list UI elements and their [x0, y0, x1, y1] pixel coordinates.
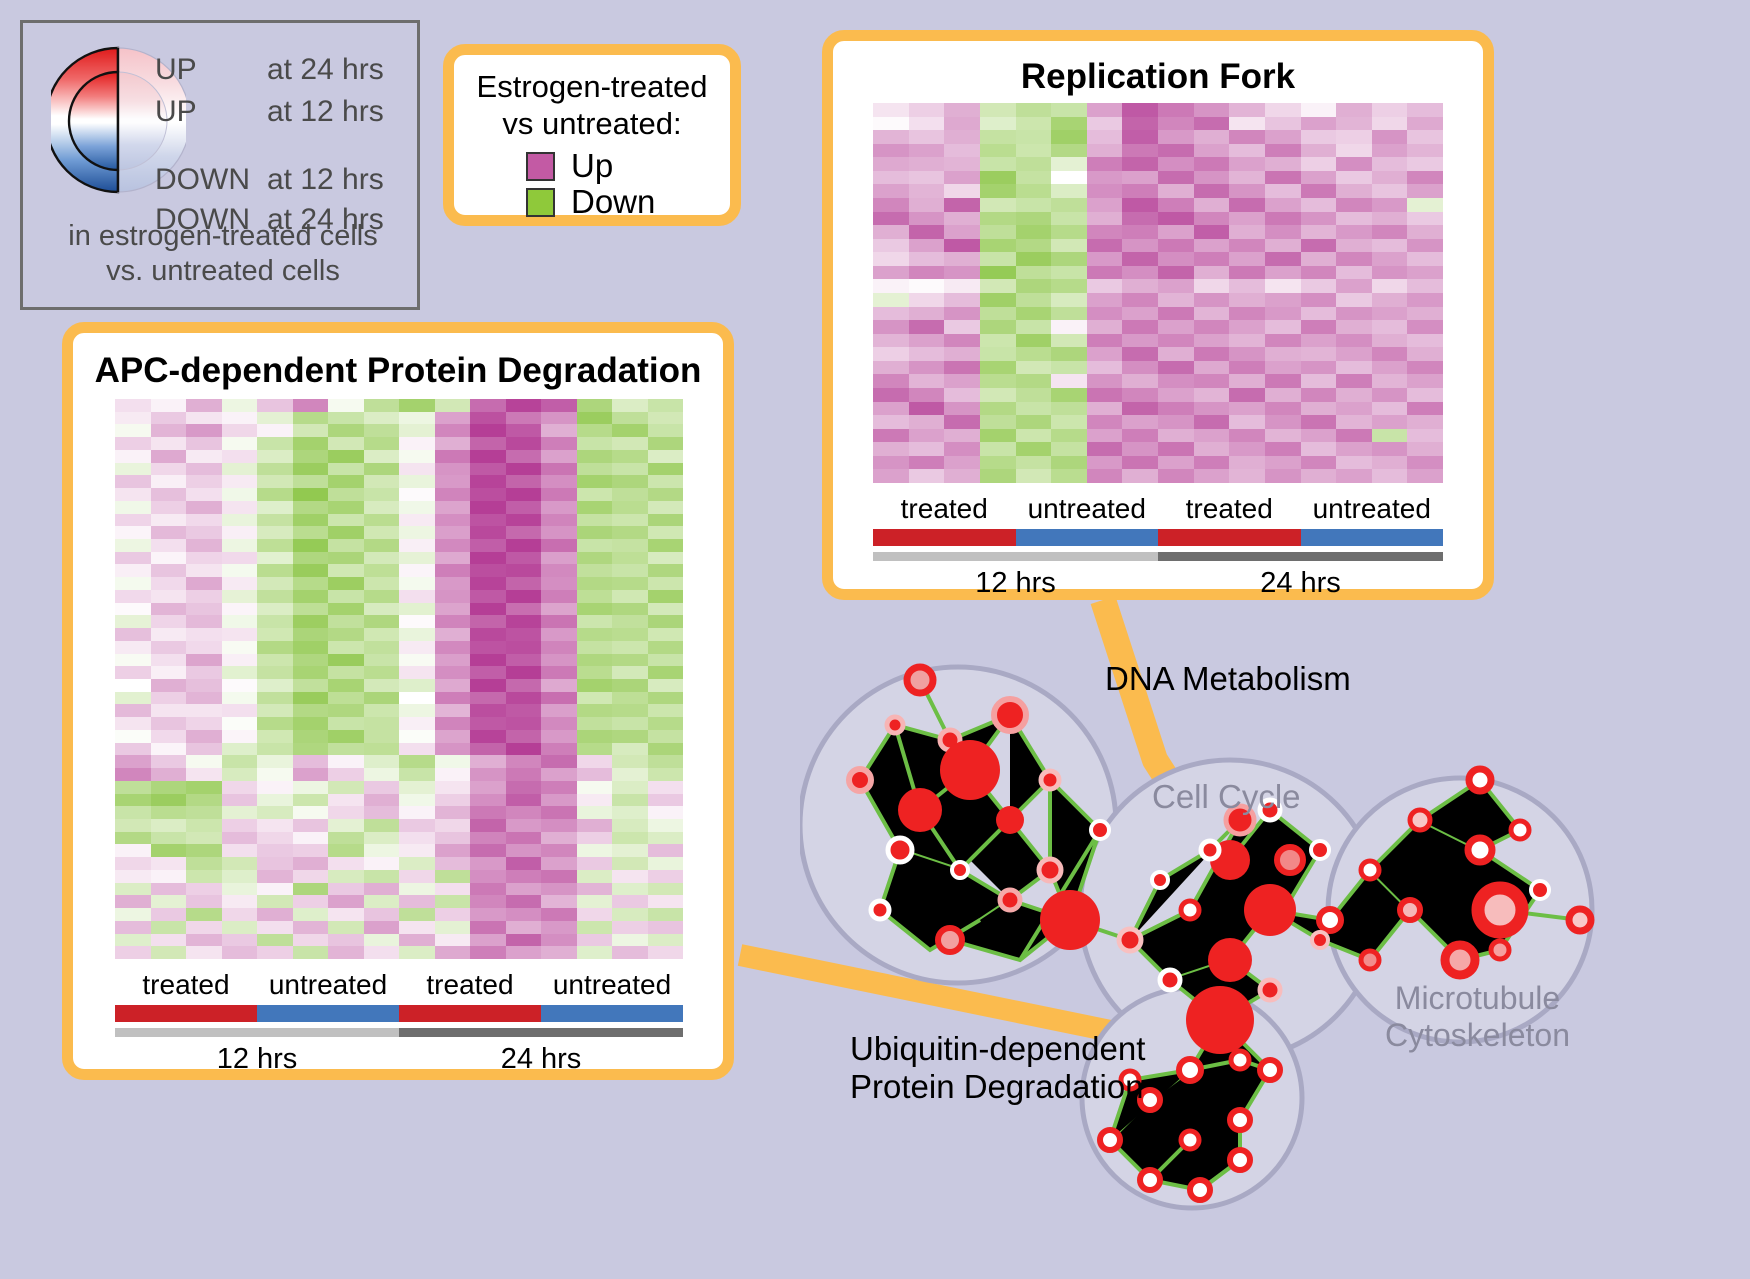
- heatmap-cell: [1336, 198, 1372, 212]
- heatmap-cell: [1229, 388, 1265, 402]
- heatmap-cell: [186, 883, 222, 896]
- heatmap-cell: [222, 514, 258, 527]
- heatmap-cell: [293, 475, 329, 488]
- heatmap-cell: [612, 806, 648, 819]
- heatmap-cell: [1301, 361, 1337, 375]
- heatmap-cell: [873, 361, 909, 375]
- heatmap-cell: [151, 946, 187, 959]
- heatmap-cell: [1087, 103, 1123, 117]
- heatmap-cell: [1122, 293, 1158, 307]
- heatmap-cell: [293, 692, 329, 705]
- heatmap-cell: [648, 437, 684, 450]
- heatmap-cell: [612, 692, 648, 705]
- heatmap-cell: [612, 615, 648, 628]
- heatmap-cell: [399, 730, 435, 743]
- heatmap-cell: [115, 908, 151, 921]
- heatmap-cell: [1016, 117, 1052, 131]
- heatmap-cell: [115, 934, 151, 947]
- heatmap-cell: [1372, 266, 1408, 280]
- heatmap-cell: [399, 450, 435, 463]
- heatmap-cell: [648, 946, 684, 959]
- apc-time-labels: 12 hrs 24 hrs: [115, 1043, 683, 1076]
- heatmap-cell: [541, 755, 577, 768]
- heatmap-cell: [1372, 334, 1408, 348]
- heatmap-cell: [364, 666, 400, 679]
- heatmap-cell: [1336, 171, 1372, 185]
- heatmap-cell: [328, 870, 364, 883]
- updown-title-line1: Estrogen-treated: [454, 69, 730, 106]
- heatmap-cell: [1372, 157, 1408, 171]
- heatmap-cell: [577, 526, 613, 539]
- heatmap-cell: [873, 307, 909, 321]
- heatmap-cell: [257, 641, 293, 654]
- heatmap-cell: [1229, 307, 1265, 321]
- heatmap-cell: [257, 412, 293, 425]
- heatmap-cell: [1087, 171, 1123, 185]
- heatmap-cell: [944, 130, 980, 144]
- heatmap-cell: [1122, 347, 1158, 361]
- heatmap-cell: [1265, 307, 1301, 321]
- heatmap-cell: [873, 388, 909, 402]
- heatmap-cell: [257, 463, 293, 476]
- heatmap-cell: [1229, 144, 1265, 158]
- heatmap-cell: [328, 832, 364, 845]
- heatmap-cell: [506, 857, 542, 870]
- heatmap-cell: [470, 857, 506, 870]
- heatmap-cell: [399, 539, 435, 552]
- heatmap-cell: [186, 870, 222, 883]
- heatmap-cell: [435, 450, 471, 463]
- heatmap-cell: [186, 844, 222, 857]
- heatmap-cell: [293, 883, 329, 896]
- heatmap-cell: [1301, 117, 1337, 131]
- heatmap-cell: [364, 526, 400, 539]
- heatmap-cell: [115, 781, 151, 794]
- heatmap-cell: [980, 307, 1016, 321]
- heatmap-cell: [435, 908, 471, 921]
- heatmap-cell: [151, 488, 187, 501]
- heatmap-cell: [435, 552, 471, 565]
- heatmap-cell: [909, 334, 945, 348]
- heatmap-cell: [435, 679, 471, 692]
- heatmap-cell: [1158, 157, 1194, 171]
- heatmap-cell: [1158, 212, 1194, 226]
- heatmap-cell: [1087, 144, 1123, 158]
- heatmap-cell: [1194, 212, 1230, 226]
- heatmap-cell: [399, 654, 435, 667]
- heatmap-cell: [944, 103, 980, 117]
- heatmap-cell: [399, 488, 435, 501]
- heatmap-cell: [293, 844, 329, 857]
- heatmap-cell: [470, 450, 506, 463]
- heatmap-cell: [873, 117, 909, 131]
- heatmap-cell: [612, 895, 648, 908]
- heatmap-cell: [1336, 157, 1372, 171]
- heatmap-cell: [1372, 144, 1408, 158]
- heatmap-cell: [470, 488, 506, 501]
- heatmap-cell: [1229, 320, 1265, 334]
- heatmap-cell: [1194, 293, 1230, 307]
- heatmap-cell: [1407, 239, 1443, 253]
- heatmap-cell: [399, 679, 435, 692]
- heatmap-cell: [944, 320, 980, 334]
- heatmap-cell: [1158, 429, 1194, 443]
- heatmap-cell: [577, 424, 613, 437]
- heatmap-cell: [115, 437, 151, 450]
- network-diagram: DNA Metabolism Cell Cycle Microtubule Cy…: [800, 620, 1750, 1279]
- heatmap-cell: [612, 883, 648, 896]
- heatmap-cell: [541, 666, 577, 679]
- heatmap-cell: [186, 934, 222, 947]
- heatmap-cell: [364, 730, 400, 743]
- heatmap-cell: [399, 437, 435, 450]
- heatmap-cell: [399, 552, 435, 565]
- heatmap-cell: [1336, 130, 1372, 144]
- heatmap-cell: [873, 415, 909, 429]
- heatmap-cell: [186, 539, 222, 552]
- heatmap-cell: [541, 577, 577, 590]
- heatmap-cell: [115, 819, 151, 832]
- heatmap-cell: [435, 870, 471, 883]
- heatmap-cell: [186, 908, 222, 921]
- cluster-label-dna-metabolism: DNA Metabolism: [1105, 660, 1351, 698]
- heatmap-cell: [399, 921, 435, 934]
- heatmap-cell: [115, 806, 151, 819]
- heatmap-cell: [470, 908, 506, 921]
- color-bar-segment: [115, 1028, 399, 1037]
- heatmap-cell: [1229, 117, 1265, 131]
- heatmap-cell: [151, 475, 187, 488]
- heatmap-cell: [1087, 130, 1123, 144]
- heatmap-cell: [115, 577, 151, 590]
- heatmap-cell: [151, 717, 187, 730]
- heatmap-cell: [151, 552, 187, 565]
- heatmap-cell: [506, 806, 542, 819]
- heatmap-cell: [648, 539, 684, 552]
- heatmap-cell: [612, 755, 648, 768]
- heatmap-cell: [1407, 347, 1443, 361]
- heatmap-cell: [186, 564, 222, 577]
- heatmap-cell: [1301, 184, 1337, 198]
- heatmap-cell: [1372, 374, 1408, 388]
- heatmap-cell: [364, 463, 400, 476]
- heatmap-cell: [648, 934, 684, 947]
- heatmap-cell: [1016, 334, 1052, 348]
- heatmap-cell: [151, 412, 187, 425]
- heatmap-cell: [541, 539, 577, 552]
- heatmap-cell: [1016, 266, 1052, 280]
- heatmap-cell: [980, 415, 1016, 429]
- heatmap-cell: [1122, 429, 1158, 443]
- heatmap-cell: [399, 755, 435, 768]
- heatmap-cell: [1087, 415, 1123, 429]
- heatmap-cell: [944, 429, 980, 443]
- heatmap-cell: [257, 794, 293, 807]
- heatmap-cell: [612, 870, 648, 883]
- heatmap-cell: [1122, 456, 1158, 470]
- color-bar-segment: [1301, 529, 1444, 546]
- heatmap-cell: [873, 252, 909, 266]
- legend-item-up: Up: [526, 147, 613, 185]
- heatmap-cell: [257, 819, 293, 832]
- heatmap-cell: [470, 679, 506, 692]
- heatmap-cell: [435, 666, 471, 679]
- heatmap-cell: [980, 266, 1016, 280]
- heatmap-cell: [612, 526, 648, 539]
- heatmap-cell: [151, 450, 187, 463]
- heatmap-cell: [648, 564, 684, 577]
- heatmap-cell: [328, 488, 364, 501]
- heatmap-cell: [612, 603, 648, 616]
- heatmap-cell: [151, 934, 187, 947]
- heatmap-cell: [115, 590, 151, 603]
- heatmap-cell: [186, 628, 222, 641]
- heatmap-cell: [222, 463, 258, 476]
- heatmap-cell: [980, 334, 1016, 348]
- apc-cond-0: treated: [115, 969, 257, 1001]
- heatmap-cell: [435, 488, 471, 501]
- heatmap-cell: [577, 717, 613, 730]
- heatmap-cell: [1194, 347, 1230, 361]
- heatmap-cell: [115, 832, 151, 845]
- heatmap-cell: [1051, 415, 1087, 429]
- heatmap-cell: [612, 488, 648, 501]
- heatmap-cell: [257, 717, 293, 730]
- heatmap-cell: [186, 641, 222, 654]
- heatmap-cell: [1336, 374, 1372, 388]
- heatmap-cell: [541, 679, 577, 692]
- heatmap-cell: [909, 266, 945, 280]
- heatmap-cell: [435, 501, 471, 514]
- heatmap-cell: [1087, 184, 1123, 198]
- heatmap-cell: [151, 666, 187, 679]
- heatmap-cell: [1087, 212, 1123, 226]
- heatmap-cell: [1087, 347, 1123, 361]
- heatmap-cell: [115, 921, 151, 934]
- heatmap-cell: [328, 946, 364, 959]
- heatmap-cell: [506, 424, 542, 437]
- heatmap-cell: [980, 429, 1016, 443]
- heatmap-cell: [222, 450, 258, 463]
- heatmap-cell: [1265, 334, 1301, 348]
- heatmap-cell: [151, 844, 187, 857]
- heatmap-cell: [612, 679, 648, 692]
- heatmap-cell: [293, 424, 329, 437]
- heatmap-cell: [1301, 442, 1337, 456]
- rep-time-1: 24 hrs: [1158, 567, 1443, 600]
- heatmap-cell: [980, 320, 1016, 334]
- heatmap-cell: [909, 374, 945, 388]
- heatmap-cell: [541, 921, 577, 934]
- heatmap-cell: [980, 198, 1016, 212]
- heatmap-cell: [364, 514, 400, 527]
- heatmap-cell: [541, 590, 577, 603]
- heatmap-cell: [435, 399, 471, 412]
- wheel-row-up-12: UPat 12 hrs: [155, 95, 384, 129]
- heatmap-cell: [909, 239, 945, 253]
- color-bar-segment: [873, 529, 1016, 546]
- heatmap-cell: [293, 564, 329, 577]
- heatmap-cell: [1087, 388, 1123, 402]
- heatmap-cell: [1122, 469, 1158, 483]
- heatmap-cell: [1372, 293, 1408, 307]
- heatmap-cell: [1051, 239, 1087, 253]
- heatmap-cell: [364, 908, 400, 921]
- heatmap-cell: [1087, 252, 1123, 266]
- heatmap-cell: [115, 603, 151, 616]
- heatmap-cell: [648, 692, 684, 705]
- wheel-label-down-12: DOWN: [155, 163, 267, 197]
- heatmap-cell: [541, 654, 577, 667]
- heatmap-cell: [1265, 266, 1301, 280]
- heatmap-cell: [1372, 469, 1408, 483]
- heatmap-cell: [435, 628, 471, 641]
- heatmap-cell: [506, 666, 542, 679]
- heatmap-cell: [115, 412, 151, 425]
- heatmap-cell: [1336, 117, 1372, 131]
- heatmap-cell: [257, 730, 293, 743]
- color-bar-segment: [257, 1005, 399, 1022]
- heatmap-cell: [1158, 388, 1194, 402]
- heatmap-cell: [293, 908, 329, 921]
- heatmap-cell: [186, 921, 222, 934]
- heatmap-cell: [328, 743, 364, 756]
- heatmap-cell: [648, 794, 684, 807]
- heatmap-cell: [435, 730, 471, 743]
- heatmap-cell: [612, 921, 648, 934]
- heatmap-cell: [470, 641, 506, 654]
- heatmap-cell: [612, 577, 648, 590]
- heatmap-cell: [293, 437, 329, 450]
- heatmap-cell: [541, 615, 577, 628]
- heatmap-cell: [1229, 456, 1265, 470]
- heatmap-cell: [1407, 225, 1443, 239]
- heatmap-cell: [470, 475, 506, 488]
- heatmap-cell: [1301, 225, 1337, 239]
- heatmap-cell: [364, 692, 400, 705]
- heatmap-cell: [1301, 103, 1337, 117]
- heatmap-cell: [186, 424, 222, 437]
- heatmap-cell: [944, 456, 980, 470]
- heatmap-cell: [1194, 198, 1230, 212]
- heatmap-cell: [151, 806, 187, 819]
- heatmap-cell: [222, 501, 258, 514]
- heatmap-cell: [293, 819, 329, 832]
- heatmap-cell: [1229, 374, 1265, 388]
- heatmap-cell: [1229, 266, 1265, 280]
- heatmap-cell: [399, 743, 435, 756]
- heatmap-cell: [980, 374, 1016, 388]
- heatmap-cell: [364, 895, 400, 908]
- heatmap-cell: [364, 844, 400, 857]
- heatmap-cell: [364, 628, 400, 641]
- heatmap-cell: [1158, 374, 1194, 388]
- heatmap-cell: [873, 144, 909, 158]
- heatmap-cell: [1301, 252, 1337, 266]
- heatmap-cell: [944, 374, 980, 388]
- heatmap-cell: [1122, 442, 1158, 456]
- heatmap-cell: [909, 212, 945, 226]
- heatmap-cell: [364, 806, 400, 819]
- heatmap-cell: [1336, 144, 1372, 158]
- heatmap-cell: [1407, 415, 1443, 429]
- heatmap-cell: [1407, 130, 1443, 144]
- heatmap-cell: [328, 692, 364, 705]
- heatmap-cell: [328, 641, 364, 654]
- heatmap-cell: [944, 266, 980, 280]
- heatmap-cell: [1265, 184, 1301, 198]
- heatmap-cell: [612, 628, 648, 641]
- heatmap-cell: [577, 603, 613, 616]
- heatmap-cell: [222, 743, 258, 756]
- heatmap-cell: [328, 475, 364, 488]
- heatmap-cell: [648, 615, 684, 628]
- heatmap-cell: [435, 641, 471, 654]
- heatmap-cell: [506, 819, 542, 832]
- heatmap-cell: [1301, 334, 1337, 348]
- heatmap-cell: [1194, 374, 1230, 388]
- heatmap-cell: [293, 934, 329, 947]
- heatmap-cell: [1336, 279, 1372, 293]
- heatmap-cell: [541, 704, 577, 717]
- color-bar-segment: [873, 552, 1158, 561]
- heatmap-cell: [1087, 402, 1123, 416]
- heatmap-cell: [944, 184, 980, 198]
- apc-condition-color-bar: [115, 1005, 683, 1022]
- heatmap-cell: [151, 615, 187, 628]
- heatmap-cell: [1407, 388, 1443, 402]
- heatmap-cell: [873, 212, 909, 226]
- heatmap-cell: [293, 539, 329, 552]
- heatmap-cell: [151, 908, 187, 921]
- heatmap-cell: [1301, 239, 1337, 253]
- heatmap-cell: [470, 666, 506, 679]
- heatmap-cell: [293, 399, 329, 412]
- heatmap-cell: [577, 819, 613, 832]
- heatmap-cell: [1016, 144, 1052, 158]
- heatmap-cell: [293, 832, 329, 845]
- heatmap-cell: [1016, 374, 1052, 388]
- heatmap-cell: [944, 144, 980, 158]
- heatmap-cell: [944, 171, 980, 185]
- legend-label-down: Down: [571, 183, 655, 221]
- heatmap-cell: [1051, 402, 1087, 416]
- heatmap-cell: [1372, 402, 1408, 416]
- heatmap-cell: [222, 526, 258, 539]
- heatmap-cell: [1301, 212, 1337, 226]
- heatmap-cell: [612, 704, 648, 717]
- heatmap-cell: [648, 743, 684, 756]
- heatmap-cell: [648, 666, 684, 679]
- heatmap-cell: [1407, 307, 1443, 321]
- heatmap-cell: [293, 603, 329, 616]
- heatmap-cell: [1194, 157, 1230, 171]
- heatmap-cell: [873, 198, 909, 212]
- heatmap-cell: [328, 730, 364, 743]
- heatmap-cell: [151, 921, 187, 934]
- heatmap-cell: [1016, 198, 1052, 212]
- heatmap-cell: [399, 590, 435, 603]
- heatmap-cell: [506, 934, 542, 947]
- heatmap-cell: [506, 768, 542, 781]
- heatmap-cell: [541, 895, 577, 908]
- heatmap-cell: [328, 564, 364, 577]
- heatmap-cell: [1194, 442, 1230, 456]
- heatmap-cell: [470, 794, 506, 807]
- heatmap-cell: [577, 934, 613, 947]
- heatmap-cell: [1122, 266, 1158, 280]
- heatmap-cell: [1336, 469, 1372, 483]
